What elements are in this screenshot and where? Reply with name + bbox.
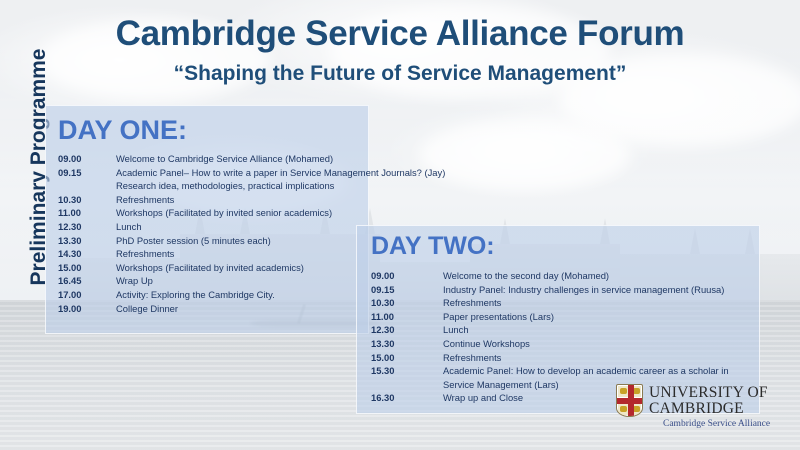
schedule-description: PhD Poster session (5 minutes each) [116, 234, 368, 248]
schedule-time: 13.30 [58, 234, 116, 248]
day-one-schedule-list: 09.00Welcome to Cambridge Service Allian… [46, 152, 368, 315]
schedule-time: 12.30 [58, 220, 116, 234]
page-title: Cambridge Service Alliance Forum [0, 14, 800, 54]
schedule-row: 16.45Wrap Up [46, 274, 368, 288]
schedule-row: 13.30Continue Workshops [357, 337, 759, 351]
schedule-row: 11.00Workshops (Facilitated by invited s… [46, 206, 368, 220]
schedule-row: Research idea, methodologies, practical … [46, 179, 368, 193]
schedule-time: 09.00 [58, 152, 116, 166]
schedule-row: 14.30Refreshments [46, 247, 368, 261]
university-logo: UNIVERSITY OF CAMBRIDGE Cambridge Servic… [616, 384, 786, 440]
schedule-description: Activity: Exploring the Cambridge City. [116, 288, 368, 302]
schedule-time: 09.15 [58, 166, 116, 180]
schedule-row: 09.15Academic Panel– How to write a pape… [46, 166, 368, 180]
schedule-time: 15.00 [58, 261, 116, 275]
schedule-row: 10.30Refreshments [357, 296, 759, 310]
schedule-row: 19.00College Dinner [46, 302, 368, 316]
schedule-row: 10.30Refreshments [46, 193, 368, 207]
schedule-row: 12.30Lunch [46, 220, 368, 234]
schedule-time: 10.30 [58, 193, 116, 207]
schedule-time: 16.30 [371, 391, 443, 405]
logo-line-one: UNIVERSITY OF [649, 385, 770, 401]
schedule-description: Academic Panel– How to write a paper in … [116, 166, 445, 180]
day-two-heading: DAY TWO: [357, 226, 759, 261]
schedule-row: 15.00Workshops (Facilitated by invited a… [46, 261, 368, 275]
schedule-row: 12.30Lunch [357, 323, 759, 337]
schedule-description: Lunch [116, 220, 368, 234]
schedule-time: 09.15 [371, 283, 443, 297]
schedule-description: Refreshments [116, 193, 368, 207]
schedule-row: 11.00Paper presentations (Lars) [357, 310, 759, 324]
schedule-description: Refreshments [443, 351, 759, 365]
schedule-description: Workshops (Facilitated by invited senior… [116, 206, 368, 220]
schedule-time: 09.00 [371, 269, 443, 283]
schedule-description: Continue Workshops [443, 337, 759, 351]
schedule-description: Refreshments [443, 296, 759, 310]
schedule-time: 17.00 [58, 288, 116, 302]
schedule-row: 09.00Welcome to the second day (Mohamed) [357, 269, 759, 283]
day-one-heading: DAY ONE: [46, 106, 368, 146]
logo-wordmark: UNIVERSITY OF CAMBRIDGE Cambridge Servic… [649, 384, 770, 431]
schedule-description: Lunch [443, 323, 759, 337]
schedule-time: 10.30 [371, 296, 443, 310]
page-subtitle: “Shaping the Future of Service Managemen… [0, 62, 800, 86]
schedule-row: 09.00Welcome to Cambridge Service Allian… [46, 152, 368, 166]
schedule-description: Welcome to Cambridge Service Alliance (M… [116, 152, 368, 166]
schedule-time: 12.30 [371, 323, 443, 337]
schedule-description: Academic Panel: How to develop an academ… [443, 364, 759, 378]
schedule-time: 19.00 [58, 302, 116, 316]
schedule-description: College Dinner [116, 302, 368, 316]
schedule-time: 13.30 [371, 337, 443, 351]
cambridge-crest-icon [616, 384, 643, 417]
schedule-time: 14.30 [58, 247, 116, 261]
schedule-description: Refreshments [116, 247, 368, 261]
logo-subtitle: Cambridge Service Alliance [649, 417, 770, 431]
schedule-time: 11.00 [371, 310, 443, 324]
schedule-description: Paper presentations (Lars) [443, 310, 759, 324]
schedule-row: 15.30Academic Panel: How to develop an a… [357, 364, 759, 378]
schedule-row: 15.00Refreshments [357, 351, 759, 365]
schedule-time: 15.30 [371, 364, 443, 378]
slide: Cambridge Service Alliance Forum “Shapin… [0, 0, 800, 450]
schedule-time: 16.45 [58, 274, 116, 288]
schedule-description: Wrap Up [116, 274, 368, 288]
schedule-description: Research idea, methodologies, practical … [116, 179, 368, 193]
schedule-row: 17.00Activity: Exploring the Cambridge C… [46, 288, 368, 302]
day-one-panel: DAY ONE: 09.00Welcome to Cambridge Servi… [45, 105, 369, 334]
schedule-time: 15.00 [371, 351, 443, 365]
schedule-row: 13.30PhD Poster session (5 minutes each) [46, 234, 368, 248]
schedule-description: Welcome to the second day (Mohamed) [443, 269, 759, 283]
schedule-row: 09.15Industry Panel: Industry challenges… [357, 283, 759, 297]
schedule-time: 11.00 [58, 206, 116, 220]
schedule-description: Workshops (Facilitated by invited academ… [116, 261, 368, 275]
logo-line-two: CAMBRIDGE [649, 401, 770, 417]
schedule-description: Industry Panel: Industry challenges in s… [443, 283, 759, 297]
